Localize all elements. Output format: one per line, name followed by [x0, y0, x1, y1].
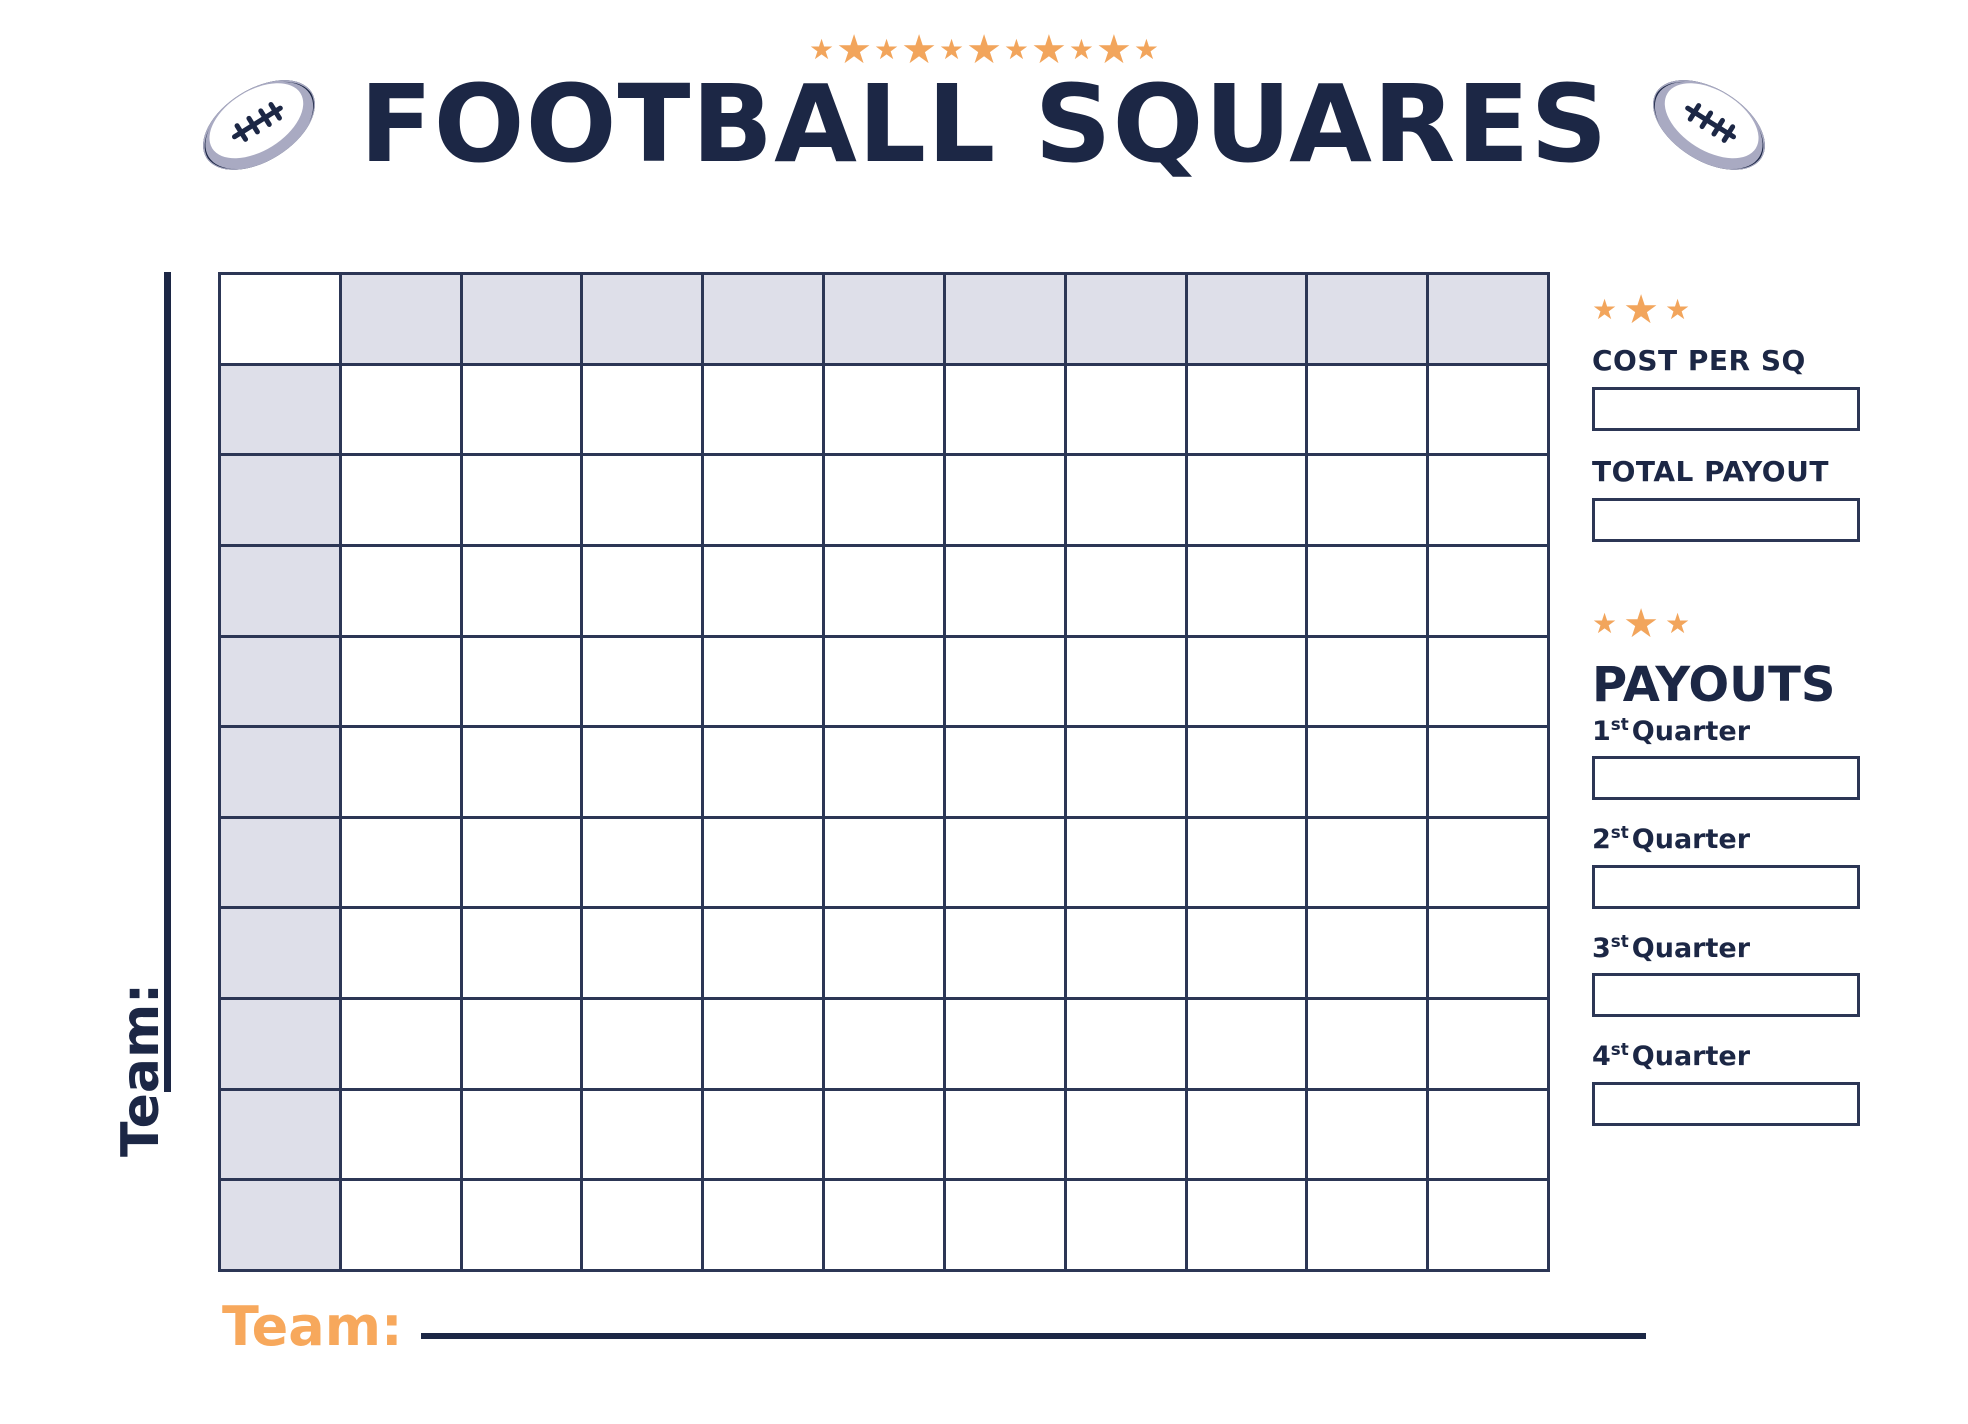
square-cell[interactable] [824, 999, 945, 1090]
square-cell[interactable] [703, 817, 824, 908]
square-cell[interactable] [1186, 817, 1307, 908]
row-header-cell[interactable] [220, 545, 341, 636]
square-cell[interactable] [340, 636, 461, 727]
row-header-cell[interactable] [220, 727, 341, 818]
total-payout-input[interactable] [1592, 498, 1860, 542]
square-cell[interactable] [1428, 364, 1549, 455]
square-cell[interactable] [703, 545, 824, 636]
star-icon: ★ [1623, 290, 1659, 330]
column-header-cell[interactable] [1065, 274, 1186, 365]
payout-quarter-block: 4stQuarter [1592, 1039, 1882, 1125]
square-cell[interactable] [461, 545, 582, 636]
square-cell[interactable] [944, 1089, 1065, 1180]
square-cell[interactable] [703, 727, 824, 818]
squares-grid[interactable] [218, 272, 1550, 1272]
side-team-label: Team: [115, 920, 167, 1220]
square-cell[interactable] [340, 1180, 461, 1271]
ordinal-suffix: st [1611, 714, 1629, 734]
square-cell[interactable] [1428, 727, 1549, 818]
square-cell[interactable] [703, 636, 824, 727]
grid-row [220, 999, 1549, 1090]
square-cell[interactable] [461, 817, 582, 908]
square-cell[interactable] [944, 1180, 1065, 1271]
square-cell[interactable] [944, 636, 1065, 727]
row-header-cell[interactable] [220, 817, 341, 908]
square-cell[interactable] [340, 817, 461, 908]
square-cell[interactable] [340, 545, 461, 636]
square-cell[interactable] [1186, 908, 1307, 999]
square-cell[interactable] [944, 545, 1065, 636]
grid-row [220, 455, 1549, 546]
square-cell[interactable] [1186, 455, 1307, 546]
square-cell[interactable] [582, 817, 703, 908]
square-cell[interactable] [340, 908, 461, 999]
square-cell[interactable] [461, 1180, 582, 1271]
square-cell[interactable] [1065, 727, 1186, 818]
square-cell[interactable] [703, 908, 824, 999]
square-cell[interactable] [1186, 727, 1307, 818]
column-header-cell[interactable] [824, 274, 945, 365]
sidebar: ★★★ COST PER SQ TOTAL PAYOUT ★★★ PAYOUTS… [1592, 290, 1882, 1148]
quarter-label: 1stQuarter [1592, 714, 1882, 748]
square-cell[interactable] [1428, 636, 1549, 727]
quarter-label: 4stQuarter [1592, 1039, 1882, 1073]
column-header-cell[interactable] [1307, 274, 1428, 365]
grid-row [220, 1089, 1549, 1180]
square-cell[interactable] [1065, 636, 1186, 727]
square-cell[interactable] [582, 455, 703, 546]
quarter-payout-input[interactable] [1592, 865, 1860, 909]
square-cell[interactable] [461, 999, 582, 1090]
square-cell[interactable] [582, 1180, 703, 1271]
grid-row [220, 636, 1549, 727]
payouts-heading: PAYOUTS [1592, 660, 1882, 710]
quarter-label: 2stQuarter [1592, 822, 1882, 856]
square-cell[interactable] [1307, 455, 1428, 546]
square-cell[interactable] [1186, 1089, 1307, 1180]
square-cell[interactable] [1186, 1180, 1307, 1271]
square-cell[interactable] [824, 817, 945, 908]
grid-row [220, 1180, 1549, 1271]
quarter-payout-input[interactable] [1592, 756, 1860, 800]
square-cell[interactable] [1307, 817, 1428, 908]
star-icon: ★ [1665, 610, 1690, 638]
square-cell[interactable] [1307, 1180, 1428, 1271]
square-cell[interactable] [1307, 545, 1428, 636]
ordinal-suffix: st [1611, 931, 1629, 951]
square-cell[interactable] [1065, 545, 1186, 636]
row-header-cell[interactable] [220, 908, 341, 999]
row-header-cell[interactable] [220, 999, 341, 1090]
square-cell[interactable] [582, 999, 703, 1090]
square-cell[interactable] [824, 727, 945, 818]
column-header-cell[interactable] [582, 274, 703, 365]
square-cell[interactable] [1428, 1180, 1549, 1271]
square-cell[interactable] [824, 364, 945, 455]
square-cell[interactable] [1186, 636, 1307, 727]
square-cell[interactable] [1307, 636, 1428, 727]
row-header-cell[interactable] [220, 1089, 341, 1180]
star-icon: ★ [1665, 296, 1690, 324]
square-cell[interactable] [582, 545, 703, 636]
square-cell[interactable] [944, 727, 1065, 818]
square-cell[interactable] [1307, 1089, 1428, 1180]
column-header-cell[interactable] [340, 274, 461, 365]
square-cell[interactable] [1065, 908, 1186, 999]
quarter-label: 3stQuarter [1592, 931, 1882, 965]
row-header-cell[interactable] [220, 636, 341, 727]
square-cell[interactable] [1428, 455, 1549, 546]
column-header-cell[interactable] [1428, 274, 1549, 365]
square-cell[interactable] [944, 817, 1065, 908]
payouts-star-trio: ★★★ [1592, 604, 1882, 644]
square-cell[interactable] [582, 1089, 703, 1180]
cost-per-sq-input[interactable] [1592, 387, 1860, 431]
ordinal-suffix: st [1611, 822, 1629, 842]
square-cell[interactable] [703, 364, 824, 455]
star-icon: ★ [1592, 296, 1617, 324]
square-cell[interactable] [944, 908, 1065, 999]
row-header-cell[interactable] [220, 455, 341, 546]
square-cell[interactable] [1428, 1089, 1549, 1180]
square-cell[interactable] [1428, 817, 1549, 908]
row-header-cell[interactable] [220, 364, 341, 455]
square-cell[interactable] [582, 364, 703, 455]
column-header-cell[interactable] [703, 274, 824, 365]
square-cell[interactable] [824, 455, 945, 546]
square-cell[interactable] [1065, 1089, 1186, 1180]
square-cell[interactable] [340, 999, 461, 1090]
payout-quarter-block: 1stQuarter [1592, 714, 1882, 800]
square-cell[interactable] [703, 999, 824, 1090]
square-cell[interactable] [1065, 999, 1186, 1090]
square-cell[interactable] [340, 364, 461, 455]
grid-row [220, 364, 1549, 455]
square-cell[interactable] [1428, 999, 1549, 1090]
grid-corner-cell[interactable] [220, 274, 341, 365]
square-cell[interactable] [1307, 908, 1428, 999]
bottom-team-label: Team: [222, 1300, 403, 1354]
square-cell[interactable] [824, 1180, 945, 1271]
cost-per-sq-label: COST PER SQ [1592, 346, 1882, 377]
square-cell[interactable] [1307, 999, 1428, 1090]
square-cell[interactable] [944, 455, 1065, 546]
square-cell[interactable] [703, 455, 824, 546]
square-cell[interactable] [1428, 545, 1549, 636]
square-cell[interactable] [461, 727, 582, 818]
quarter-payout-input[interactable] [1592, 1082, 1860, 1126]
square-cell[interactable] [1065, 817, 1186, 908]
bottom-team-rule [421, 1333, 1646, 1339]
square-cell[interactable] [340, 455, 461, 546]
square-cell[interactable] [582, 727, 703, 818]
square-cell[interactable] [824, 1089, 945, 1180]
cost-star-trio: ★★★ [1592, 290, 1882, 330]
square-cell[interactable] [582, 636, 703, 727]
grid-row [220, 727, 1549, 818]
square-cell[interactable] [340, 1089, 461, 1180]
square-cell[interactable] [1186, 999, 1307, 1090]
payout-quarter-block: 3stQuarter [1592, 931, 1882, 1017]
square-cell[interactable] [1428, 908, 1549, 999]
square-cell[interactable] [1307, 364, 1428, 455]
square-cell[interactable] [461, 908, 582, 999]
column-header-cell[interactable] [461, 274, 582, 365]
grid-row [220, 908, 1549, 999]
bottom-team-row: Team: [222, 1300, 1646, 1354]
quarter-payout-input[interactable] [1592, 973, 1860, 1017]
square-cell[interactable] [1065, 364, 1186, 455]
square-cell[interactable] [824, 545, 945, 636]
payout-quarter-block: 2stQuarter [1592, 822, 1882, 908]
column-header-cell[interactable] [944, 274, 1065, 365]
square-cell[interactable] [461, 364, 582, 455]
grid-row [220, 545, 1549, 636]
square-cell[interactable] [1065, 455, 1186, 546]
ordinal-suffix: st [1611, 1039, 1629, 1059]
square-cell[interactable] [461, 455, 582, 546]
square-cell[interactable] [824, 636, 945, 727]
row-header-cell[interactable] [220, 1180, 341, 1271]
grid-row [220, 274, 1549, 365]
square-cell[interactable] [1186, 545, 1307, 636]
star-icon: ★ [1623, 604, 1659, 644]
square-cell[interactable] [461, 1089, 582, 1180]
square-cell[interactable] [824, 908, 945, 999]
square-cell[interactable] [703, 1180, 824, 1271]
grid-row [220, 817, 1549, 908]
square-cell[interactable] [944, 364, 1065, 455]
square-cell[interactable] [1065, 1180, 1186, 1271]
square-cell[interactable] [582, 908, 703, 999]
square-cell[interactable] [461, 636, 582, 727]
squares-grid-container [218, 272, 1550, 1272]
square-cell[interactable] [1307, 727, 1428, 818]
total-payout-label: TOTAL PAYOUT [1592, 457, 1882, 488]
star-icon: ★ [1592, 610, 1617, 638]
column-header-cell[interactable] [1186, 274, 1307, 365]
square-cell[interactable] [340, 727, 461, 818]
square-cell[interactable] [703, 1089, 824, 1180]
square-cell[interactable] [1186, 364, 1307, 455]
square-cell[interactable] [944, 999, 1065, 1090]
